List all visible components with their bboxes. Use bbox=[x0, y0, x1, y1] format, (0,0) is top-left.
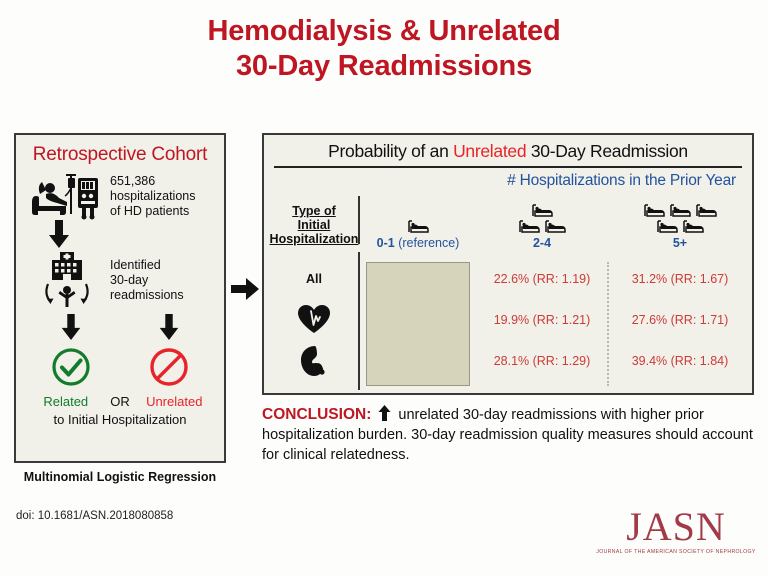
jasn-subtitle: JOURNAL OF THE AMERICAN SOCIETY OF NEPHR… bbox=[596, 549, 756, 555]
column-label-0-1-suffix: (reference) bbox=[395, 236, 460, 250]
row-axis-header-line3: Hospitalization bbox=[266, 232, 362, 246]
cohort-step2-line3: readmissions bbox=[110, 288, 184, 303]
cohort-count: 651,386 bbox=[110, 174, 195, 189]
bed-icon bbox=[544, 219, 566, 234]
page-title: Hemodialysis & Unrelated 30-Day Readmiss… bbox=[0, 14, 768, 84]
kidney-icon bbox=[266, 340, 362, 381]
column-header-2-4: 2-4 bbox=[474, 192, 610, 250]
cell-renal-2-4: 28.1% (RR: 1.29) bbox=[474, 340, 610, 381]
table-body-vertical-rule bbox=[358, 252, 360, 390]
cohort-step2-line2: 30-day bbox=[110, 273, 184, 288]
cohort-step-2-text: Identified 30-day readmissions bbox=[110, 258, 184, 303]
cohort-population: of HD patients bbox=[110, 204, 195, 219]
flow-arrow-unrelated bbox=[126, 314, 212, 345]
reference-column-highlight bbox=[366, 262, 470, 386]
table-title-post: 30-Day Readmission bbox=[526, 141, 688, 161]
jasn-logo: JASN JOURNAL OF THE AMERICAN SOCIETY OF … bbox=[596, 506, 756, 555]
row-axis-header-line2: Initial bbox=[266, 218, 362, 232]
panel-transition-arrow-icon bbox=[231, 278, 259, 305]
label-related: Related bbox=[23, 394, 109, 411]
probability-table-panel: Probability of an Unrelated 30-Day Readm… bbox=[262, 133, 754, 395]
bed-icon-group-5 bbox=[610, 192, 750, 234]
row-axis-header: Type of Initial Hospitalization bbox=[266, 204, 362, 250]
column-label-0-1: 0-1 (reference) bbox=[362, 234, 474, 250]
method-caption: Multinomial Logistic Regression bbox=[14, 470, 226, 484]
hospital-readmission-icon bbox=[24, 250, 110, 310]
bed-icon bbox=[695, 203, 717, 218]
doi-text: doi: 10.1681/ASN.2018080858 bbox=[16, 510, 173, 522]
jasn-wordmark: JASN bbox=[596, 506, 756, 548]
bed-icon bbox=[407, 219, 429, 234]
bed-icon-group-1 bbox=[362, 192, 474, 234]
cell-renal-5-plus: 39.4% (RR: 1.84) bbox=[610, 340, 750, 381]
label-to-initial-hospitalization: to Initial Hospitalization bbox=[16, 412, 224, 427]
table-header-vertical-rule bbox=[358, 196, 360, 244]
title-line-2: 30-Day Readmissions bbox=[0, 49, 768, 84]
table-header-row: Type of Initial Hospitalization 0-1 (ref… bbox=[264, 192, 752, 250]
unrelated-prohibited-icon bbox=[126, 346, 212, 393]
cohort-step2-line1: Identified bbox=[110, 258, 184, 273]
table-subtitle: # Hospitalizations in the Prior Year bbox=[264, 168, 752, 192]
conclusion-text: CONCLUSION: unrelated 30-day readmission… bbox=[262, 405, 760, 465]
cell-cardiovascular-5-plus: 27.6% (RR: 1.71) bbox=[610, 299, 750, 340]
cohort-step-1-text: 651,386 hospitalizations of HD patients bbox=[110, 174, 195, 219]
table-title-highlight: Unrelated bbox=[453, 141, 526, 161]
label-or: OR bbox=[110, 394, 130, 411]
column-label-5-plus: 5+ bbox=[610, 234, 750, 250]
cell-all-5-plus: 31.2% (RR: 1.67) bbox=[610, 258, 750, 299]
dialysis-patient-icon bbox=[24, 172, 110, 220]
up-arrow-icon bbox=[378, 405, 391, 421]
retrospective-cohort-panel: Retrospective Cohort bbox=[14, 133, 226, 463]
bed-icon-group-3 bbox=[474, 192, 610, 234]
column-dotted-divider bbox=[607, 262, 609, 386]
row-label-all: All bbox=[266, 258, 362, 299]
cohort-count-unit: hospitalizations bbox=[110, 189, 195, 204]
bed-icon bbox=[656, 219, 678, 234]
cohort-heading: Retrospective Cohort bbox=[16, 144, 224, 166]
column-header-0-1: 0-1 (reference) bbox=[362, 192, 474, 250]
row-axis-header-line1: Type of bbox=[266, 204, 362, 218]
table-body: All 19.1% 22.6% (RR: 1.19) 31.2% (RR: 1.… bbox=[264, 258, 752, 381]
cell-cardiovascular-2-4: 19.9% (RR: 1.21) bbox=[474, 299, 610, 340]
flow-arrow-1 bbox=[16, 220, 102, 248]
heart-pulse-icon bbox=[266, 299, 362, 340]
column-label-0-1-value: 0-1 bbox=[377, 236, 395, 250]
flow-arrow-related bbox=[28, 314, 114, 345]
table-title-pre: Probability of an bbox=[328, 141, 453, 161]
title-line-1: Hemodialysis & Unrelated bbox=[0, 14, 768, 49]
column-label-2-4: 2-4 bbox=[474, 234, 610, 250]
bed-icon bbox=[531, 203, 553, 218]
cell-all-2-4: 22.6% (RR: 1.19) bbox=[474, 258, 610, 299]
infographic-page: Hemodialysis & Unrelated 30-Day Readmiss… bbox=[0, 0, 768, 576]
table-title: Probability of an Unrelated 30-Day Readm… bbox=[264, 135, 752, 166]
related-check-icon bbox=[28, 346, 114, 393]
bed-icon bbox=[682, 219, 704, 234]
label-unrelated: Unrelated bbox=[131, 394, 217, 411]
conclusion-keyword: CONCLUSION: bbox=[262, 406, 371, 423]
bed-icon bbox=[518, 219, 540, 234]
bed-icon bbox=[669, 203, 691, 218]
bed-icon bbox=[643, 203, 665, 218]
column-header-5-plus: 5+ bbox=[610, 192, 750, 250]
